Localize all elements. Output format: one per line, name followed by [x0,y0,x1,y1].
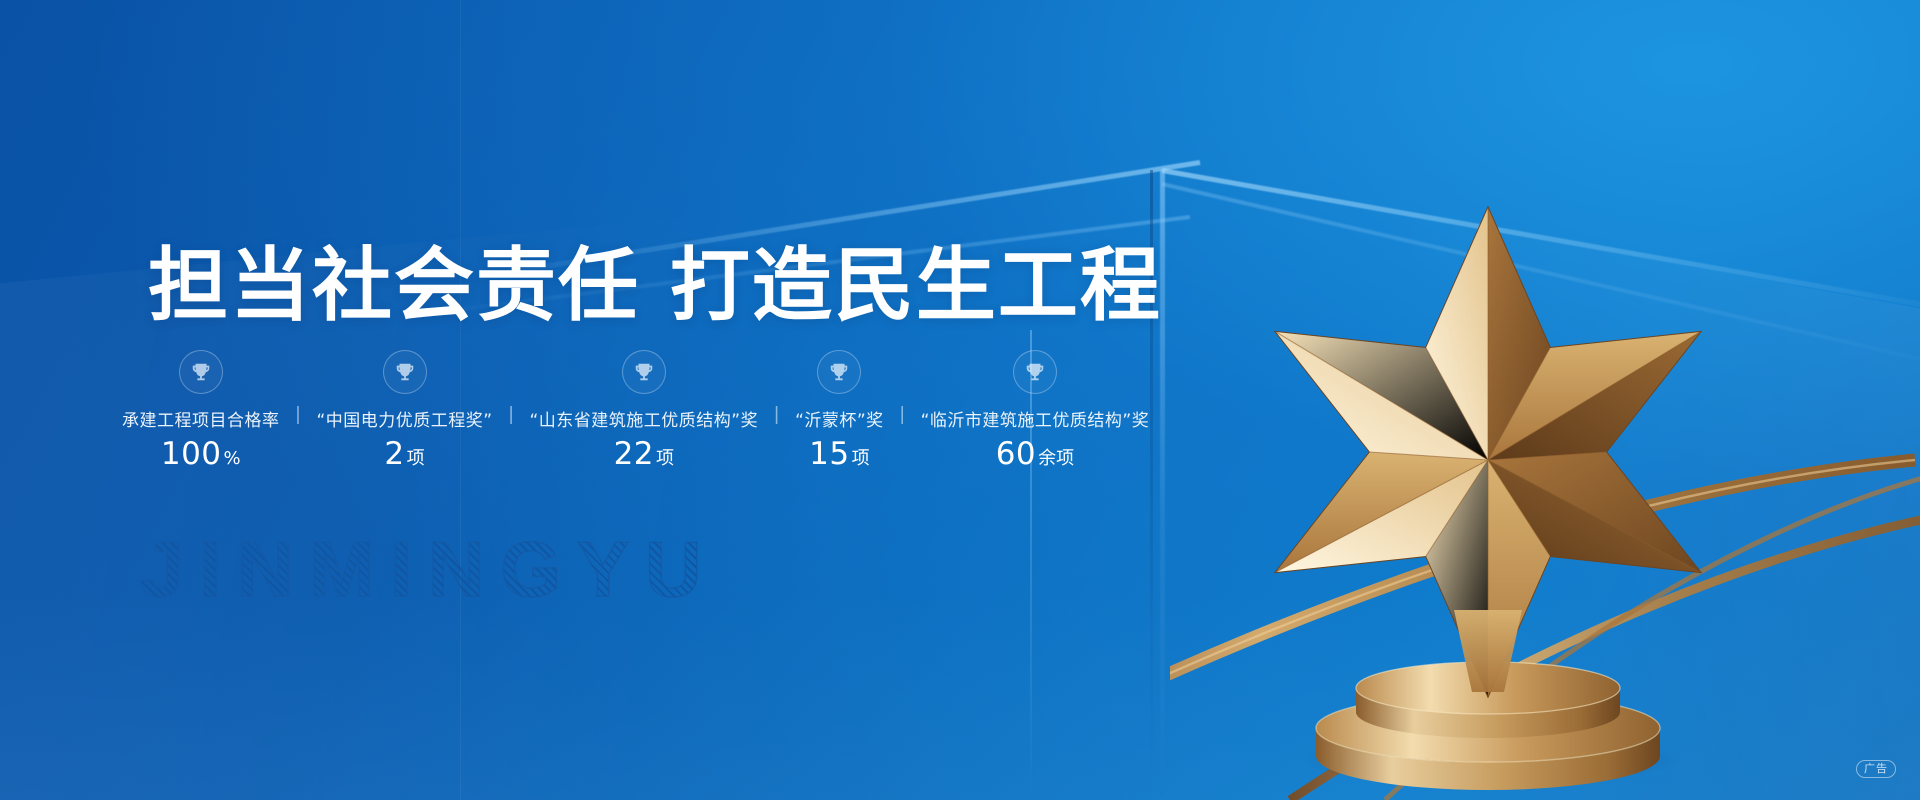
stat-item: “沂蒙杯”奖 15项 [793,350,886,472]
stat-label: “中国电力优质工程奖” [316,406,492,431]
stat-value: 60余项 [996,436,1074,472]
stat-number: 2 [384,436,404,472]
stat-label: “临沂市建筑施工优质结构”奖 [921,406,1150,431]
stat-label: 承建工程项目合格率 [122,406,280,431]
trophy-icon [1013,350,1057,394]
ad-badge[interactable]: 广告 [1856,760,1896,778]
stat-value: 15项 [809,436,869,472]
stat-item: “山东省建筑施工优质结构”奖 22项 [528,350,761,472]
stat-unit: 余项 [1038,448,1074,469]
brand-watermark: JINMINGYU [140,524,717,615]
stat-number: 15 [809,436,849,472]
stat-label: “沂蒙杯”奖 [795,406,884,431]
stat-number: 60 [996,436,1036,472]
stat-value: 22项 [614,436,674,472]
stat-item: 承建工程项目合格率 100% [120,350,282,472]
trophy-icon [817,350,861,394]
trophy-icon [383,350,427,394]
stat-value: 2项 [384,436,424,472]
stat-divider: | [282,404,315,426]
stat-value: 100% [161,436,241,472]
stat-number: 22 [614,436,654,472]
stat-divider: | [760,404,793,426]
stat-number: 100 [161,436,222,472]
stat-unit: 项 [656,448,674,469]
stat-divider: | [886,404,919,426]
trophy-icon [622,350,666,394]
stat-unit: 项 [407,448,425,469]
stat-unit: % [224,448,241,469]
stat-item: “中国电力优质工程奖” 2项 [314,350,494,472]
banner-stage: JINMINGYU 担当社会责任 打造民生工程 承建工程项目合格率 100% |… [0,0,1920,800]
page-title: 担当社会责任 打造民生工程 [148,246,1162,326]
stat-item: “临沂市建筑施工优质结构”奖 60余项 [919,350,1152,472]
star-trophy-artwork [1170,160,1920,800]
stat-unit: 项 [852,448,870,469]
trophy-icon [179,350,223,394]
stat-label: “山东省建筑施工优质结构”奖 [530,406,759,431]
stats-row: 承建工程项目合格率 100% | “中国电力优质工程奖” 2项 | [120,350,1151,472]
stat-divider: | [495,404,528,426]
